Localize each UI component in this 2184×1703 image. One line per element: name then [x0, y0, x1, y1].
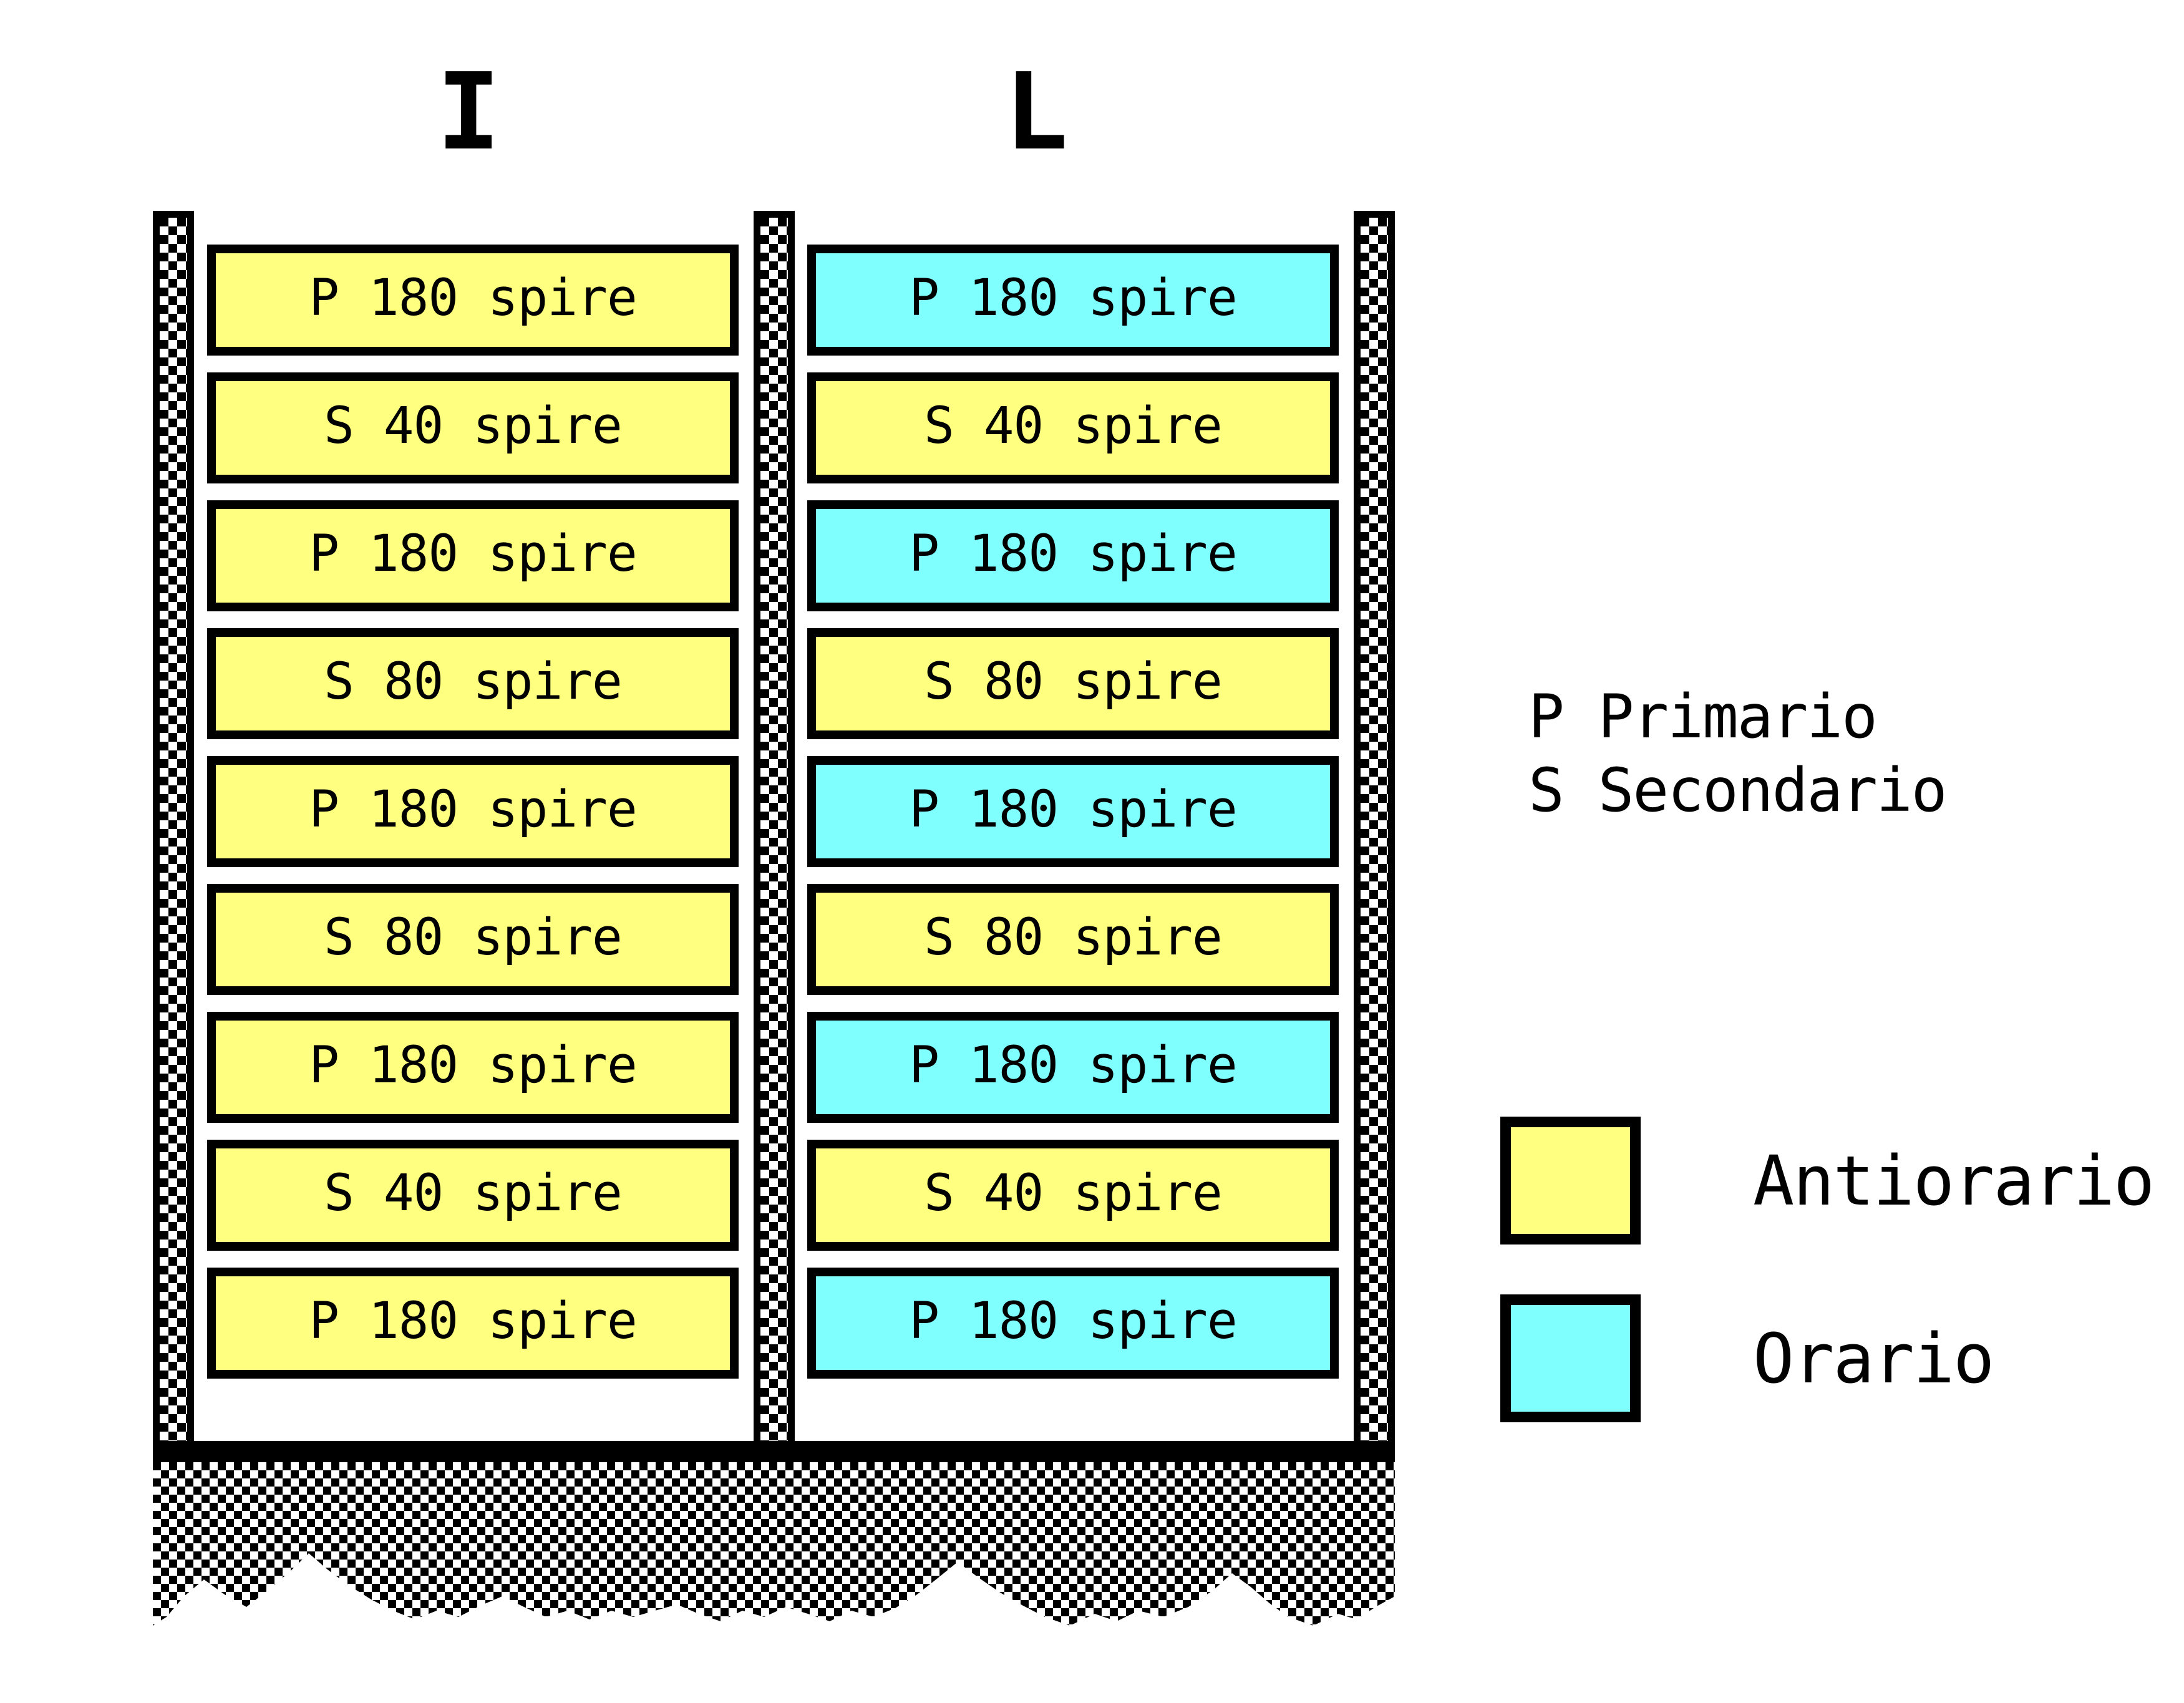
hatch-pattern — [1361, 218, 1388, 1441]
core-post-right — [1354, 211, 1395, 1441]
winding-layer: P 180 spire — [207, 1268, 739, 1379]
winding-layer: S 80 spire — [207, 884, 739, 995]
winding-layer: P 180 spire — [807, 1012, 1339, 1123]
core-base-bar — [153, 1441, 1395, 1462]
hatch-pattern — [160, 218, 187, 1441]
winding-layer-label: S 40 spire — [324, 1168, 622, 1219]
winding-layer-label: P 180 spire — [909, 785, 1236, 835]
winding-layer-label: S 80 spire — [924, 913, 1222, 963]
winding-layer: P 180 spire — [807, 245, 1339, 356]
legend-row-counterclockwise: Antiorario — [1500, 1117, 2155, 1244]
winding-layer-label: P 180 spire — [309, 273, 636, 324]
winding-layer: P 180 spire — [207, 500, 739, 611]
hatch-pattern — [760, 218, 788, 1441]
winding-layer: P 180 spire — [207, 245, 739, 356]
winding-layer: P 180 spire — [207, 1012, 739, 1123]
core-base-hatched — [153, 1462, 1395, 1643]
winding-layer: S 80 spire — [807, 884, 1339, 995]
legend-color-key: Antiorario Orario — [1500, 1117, 2155, 1472]
winding-layer-label: P 180 spire — [309, 1296, 636, 1347]
winding-layer: P 180 spire — [807, 1268, 1339, 1379]
swatch-label-counterclockwise: Antiorario — [1753, 1147, 2153, 1215]
winding-layer-label: S 80 spire — [324, 657, 622, 707]
core-post-middle — [754, 211, 795, 1441]
winding-layer-label: S 40 spire — [924, 1168, 1222, 1219]
winding-layer: P 180 spire — [807, 500, 1339, 611]
winding-layer-label: S 80 spire — [924, 657, 1222, 707]
winding-layer: S 40 spire — [207, 372, 739, 483]
swatch-counterclockwise — [1500, 1117, 1641, 1244]
winding-layer-label: P 180 spire — [909, 529, 1236, 580]
winding-layer-label: S 40 spire — [924, 401, 1222, 452]
winding-layer-label: P 180 spire — [309, 529, 636, 580]
winding-layer: P 180 spire — [807, 756, 1339, 867]
core-post-left — [153, 211, 194, 1441]
winding-layer: S 40 spire — [207, 1140, 739, 1251]
winding-layer: S 80 spire — [807, 628, 1339, 739]
legend-secondary: S Secondario — [1528, 754, 2152, 827]
winding-layer-label: P 180 spire — [909, 273, 1236, 324]
winding-layer: S 40 spire — [807, 1140, 1339, 1251]
winding-layer-label: S 40 spire — [324, 401, 622, 452]
column-label-I: I — [437, 59, 500, 165]
winding-layer-label: P 180 spire — [309, 785, 636, 835]
legend-row-clockwise: Orario — [1500, 1294, 2155, 1422]
winding-layer-label: P 180 spire — [909, 1296, 1236, 1347]
winding-column-I: P 180 spireS 40 spireP 180 spireS 80 spi… — [207, 245, 739, 1395]
winding-layer: P 180 spire — [207, 756, 739, 867]
winding-layer-label: P 180 spire — [309, 1041, 636, 1091]
winding-layer-label: P 180 spire — [909, 1041, 1236, 1091]
swatch-label-clockwise: Orario — [1753, 1324, 1993, 1393]
winding-layer-label: S 80 spire — [324, 913, 622, 963]
winding-column-L: P 180 spireS 40 spireP 180 spireS 80 spi… — [807, 245, 1339, 1395]
diagram-canvas: I L P 180 spireS 40 spireP 180 spireS 80… — [0, 0, 2184, 1703]
swatch-clockwise — [1500, 1294, 1641, 1422]
legend-primary: P Primario — [1528, 680, 2152, 754]
winding-layer: S 80 spire — [207, 628, 739, 739]
column-label-L: L — [1004, 59, 1068, 165]
legend-abbreviations: P Primario S Secondario — [1528, 680, 2152, 827]
winding-layer: S 40 spire — [807, 372, 1339, 483]
